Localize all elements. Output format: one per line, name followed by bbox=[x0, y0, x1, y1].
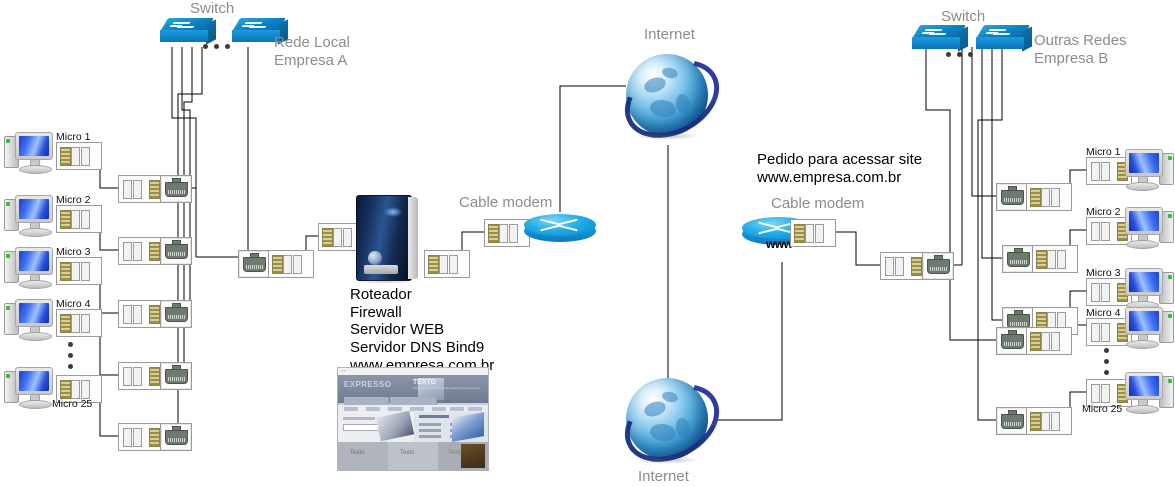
thumb-topbar: › › bbox=[338, 368, 488, 375]
server-roles-label: Roteador Firewall Servidor WEB Servidor … bbox=[350, 286, 494, 374]
thumb-cell-2: Texto bbox=[400, 450, 414, 456]
thumb-breadcrumb: › › bbox=[342, 369, 345, 373]
thumb-brand: EXPRESSO bbox=[344, 380, 391, 389]
rj45-jack-left-uplink bbox=[238, 250, 270, 278]
workstation-right-25[interactable] bbox=[1122, 370, 1174, 416]
patch-module-left-3 bbox=[56, 257, 102, 285]
switch-icon-left-a[interactable] bbox=[160, 18, 216, 48]
host-label-right-25: Micro 25 bbox=[1082, 403, 1122, 415]
workstation-left-1[interactable] bbox=[4, 130, 56, 176]
workstation-right-1[interactable] bbox=[1122, 147, 1174, 193]
thumb-nav[interactable] bbox=[338, 405, 488, 412]
patch-panel-left-4 bbox=[118, 362, 164, 390]
thumb-cell-1: Texto bbox=[350, 450, 364, 456]
workstation-left-4[interactable] bbox=[4, 297, 56, 343]
switch-label-left: Switch bbox=[190, 0, 234, 18]
patch-panel-left-25 bbox=[118, 423, 164, 451]
internet-label-bottom: Internet bbox=[638, 468, 689, 486]
server-tower-icon[interactable] bbox=[348, 195, 426, 287]
rj45-jack-right-25 bbox=[996, 407, 1028, 435]
rj45-jack-left-1 bbox=[160, 175, 192, 203]
switch-icon-right-a[interactable] bbox=[912, 25, 968, 55]
thumb-headline-text: TEXTO bbox=[413, 379, 436, 386]
network-title-right: Outras Redes Empresa B bbox=[1034, 32, 1127, 67]
cable-modem-label-left: Cable modem bbox=[459, 194, 552, 212]
router-www-label: www bbox=[766, 237, 793, 251]
internet-label-top: Internet bbox=[644, 26, 695, 44]
patch-panel-right-2 bbox=[1032, 245, 1078, 273]
switch-icon-right-b[interactable] bbox=[976, 25, 1032, 55]
thumb-headline: TEXTO Texto texto texto Texto texto text… bbox=[413, 379, 480, 391]
patch-module-left-1 bbox=[56, 142, 102, 170]
workstation-left-25[interactable] bbox=[4, 365, 56, 411]
patch-panel-left-2 bbox=[118, 237, 164, 265]
patch-panel-right-1 bbox=[1026, 183, 1072, 211]
patch-module-left-4 bbox=[56, 309, 102, 337]
server-nic-module-wan bbox=[424, 250, 470, 278]
patch-module-left-uplink bbox=[268, 250, 314, 278]
thumb-section-title bbox=[419, 415, 449, 418]
rj45-jack-left-25 bbox=[160, 423, 192, 451]
network-title-left: Rede Local Empresa A bbox=[274, 34, 350, 69]
internet-globe-top[interactable] bbox=[620, 48, 716, 144]
patch-panel-left-3 bbox=[118, 300, 164, 328]
workstation-right-2[interactable] bbox=[1122, 205, 1174, 251]
thumb-corner-image bbox=[461, 444, 485, 468]
cable-modem-router-left[interactable] bbox=[524, 214, 596, 250]
thumb-tabs[interactable] bbox=[338, 397, 488, 405]
patch-panel-right-25 bbox=[1026, 407, 1072, 435]
workstation-right-4[interactable] bbox=[1122, 305, 1174, 351]
uplink-module-right bbox=[880, 252, 926, 280]
rj45-jack-right-4 bbox=[996, 327, 1028, 355]
switch-label-right: Switch bbox=[941, 8, 985, 26]
cable-modem-module-right bbox=[790, 219, 836, 247]
rj45-jack-right-uplink bbox=[922, 252, 954, 280]
rj45-jack-right-2 bbox=[1002, 245, 1034, 273]
rj45-jack-left-2 bbox=[160, 237, 192, 265]
request-note-label: Pedido para acessar site www.empresa.com… bbox=[757, 151, 922, 186]
network-diagram-canvas: Switch Rede Local Empresa A Micro 1 Micr… bbox=[0, 0, 1175, 487]
rj45-jack-right-1 bbox=[996, 183, 1028, 211]
patch-panel-left-1 bbox=[118, 175, 164, 203]
cable-modem-label-right: Cable modem bbox=[771, 195, 864, 213]
thumb-headline-sub: Texto texto texto Texto texto texto Text… bbox=[413, 386, 480, 391]
patch-module-left-2 bbox=[56, 205, 102, 233]
patch-panel-right-4 bbox=[1026, 327, 1072, 355]
rj45-jack-left-4 bbox=[160, 362, 192, 390]
internet-globe-bottom[interactable] bbox=[620, 372, 716, 468]
workstation-left-2[interactable] bbox=[4, 193, 56, 239]
host-label-left-25: Micro 25 bbox=[52, 398, 92, 410]
workstation-left-3[interactable] bbox=[4, 245, 56, 291]
rj45-jack-left-3 bbox=[160, 300, 192, 328]
website-thumbnail[interactable]: › › EXPRESSO TEXTO Texto texto texto Tex… bbox=[337, 367, 489, 471]
